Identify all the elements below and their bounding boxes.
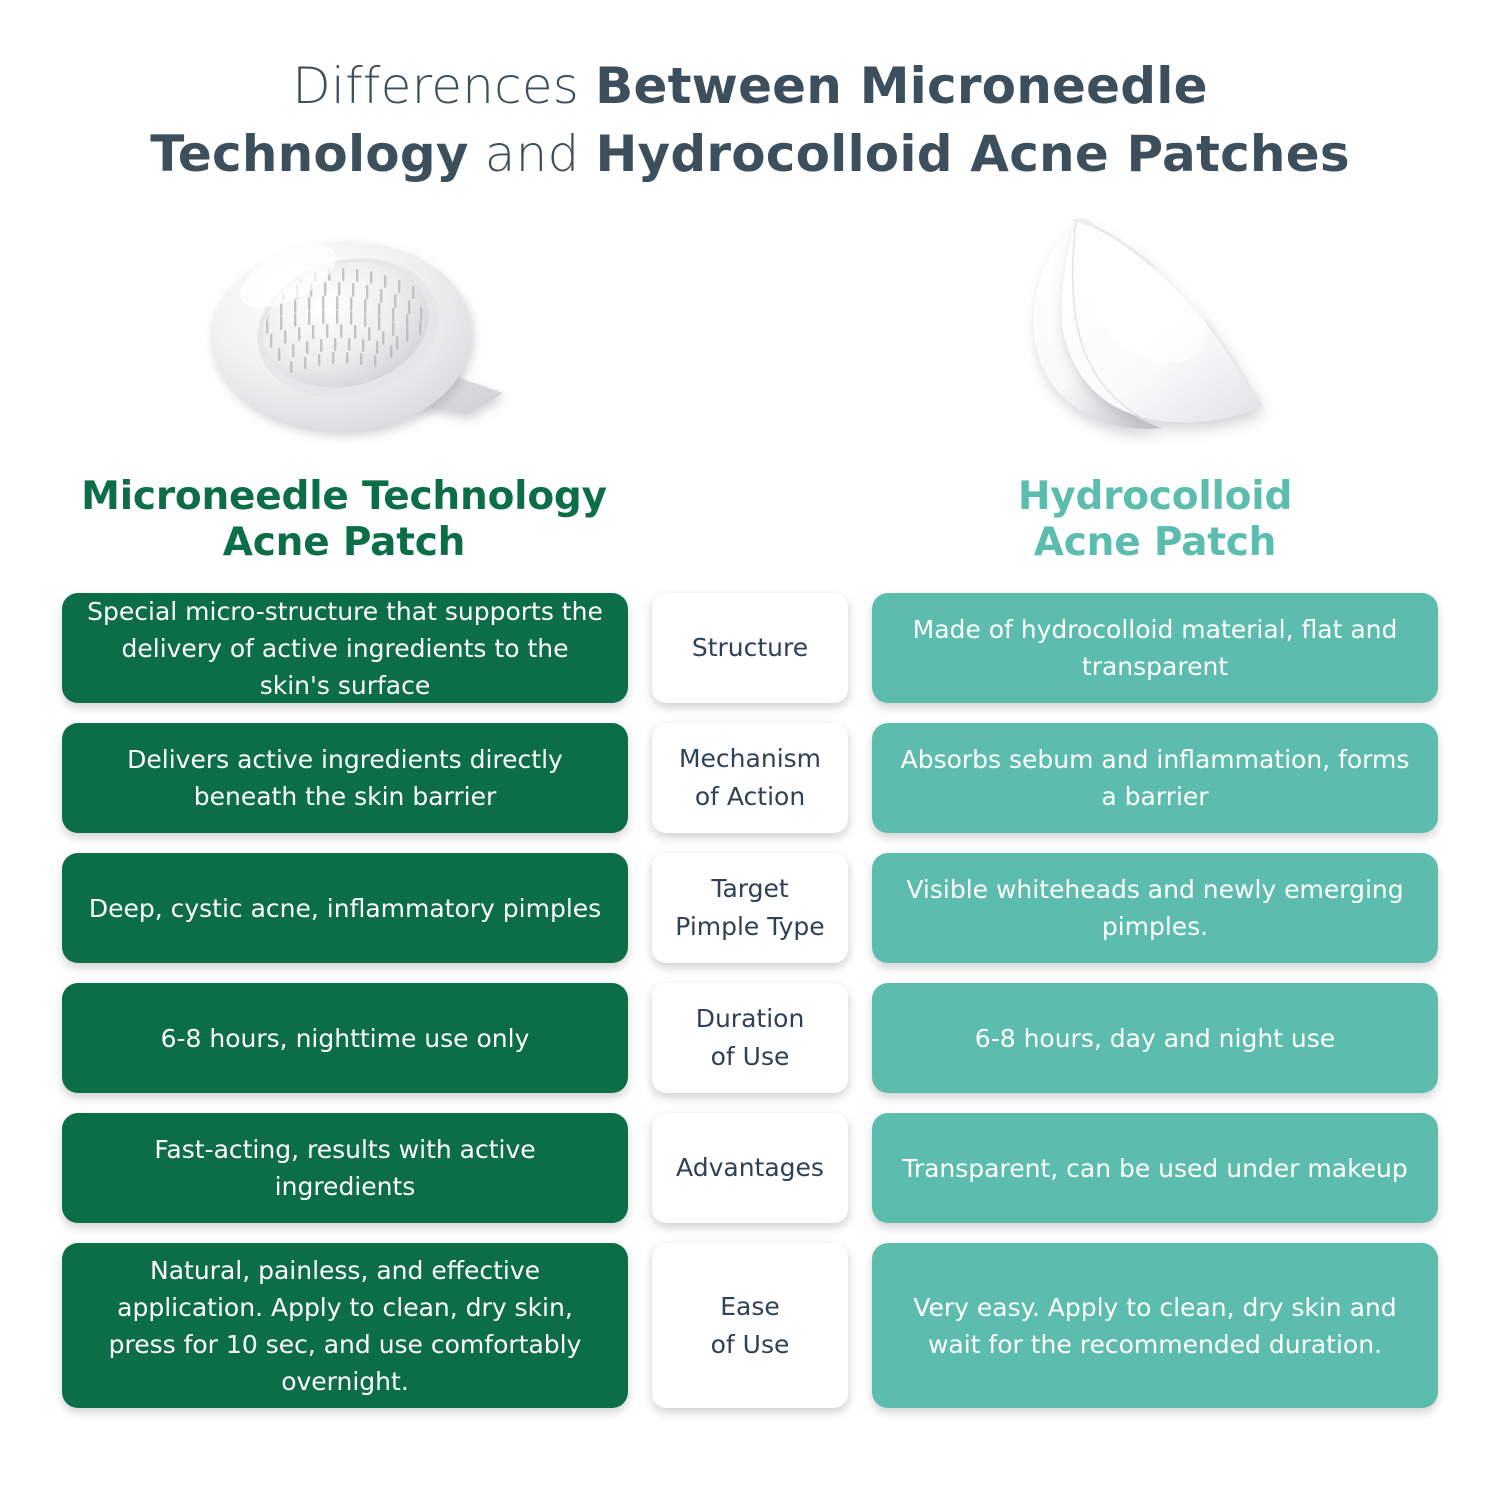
row-label-cell: Duration of Use [652,983,848,1093]
hydrocolloid-patch-graphic [980,200,1310,450]
table-row: Natural, painless, and effective applica… [0,1243,1500,1408]
title-word-and: and [469,125,596,183]
title-word-differences: Differences [292,57,595,115]
microneedle-cell: Special micro-structure that supports th… [62,593,628,703]
product-image-row [0,200,1500,450]
row-label: Mechanism of Action [679,740,821,816]
microneedle-cell: Delivers active ingredients directly ben… [62,723,628,833]
row-label-cell: Mechanism of Action [652,723,848,833]
column-heading-microneedle-line1: Microneedle Technology [42,474,646,520]
hydrocolloid-cell: Visible whiteheads and newly emerging pi… [872,853,1438,963]
column-heading-microneedle: Microneedle Technology Acne Patch [42,474,646,566]
column-heading-hydrocolloid-line1: Hydrocolloid [872,474,1438,520]
column-heading-microneedle-line2: Acne Patch [42,520,646,566]
title-line-1: Differences Between Microneedle [110,52,1390,120]
microneedle-patch-graphic [168,218,538,448]
microneedle-cell: Deep, cystic acne, inflammatory pimples [62,853,628,963]
microneedle-cell: Fast-acting, results with active ingredi… [62,1113,628,1223]
row-label-cell: Advantages [652,1113,848,1223]
microneedle-cell: Natural, painless, and effective applica… [62,1243,628,1408]
row-label: Ease of Use [711,1288,790,1364]
row-label-cell: Structure [652,593,848,703]
hydrocolloid-patch-image [980,200,1310,450]
row-label: Target Pimple Type [675,870,824,946]
table-row: 6-8 hours, nighttime use onlyDuration of… [0,983,1500,1093]
infographic-page: Differences Between Microneedle Technolo… [0,0,1500,1500]
column-heading-hydrocolloid: Hydrocolloid Acne Patch [872,474,1438,566]
comparison-table: Special micro-structure that supports th… [0,593,1500,1428]
row-label: Structure [692,629,808,667]
microneedle-cell: 6-8 hours, nighttime use only [62,983,628,1093]
title-phrase-hydrocolloid-acne-patches: Hydrocolloid Acne Patches [596,125,1350,183]
title-phrase-between-microneedle: Between Microneedle [595,57,1208,115]
table-row: Fast-acting, results with active ingredi… [0,1113,1500,1223]
row-label: Advantages [676,1149,824,1187]
column-heading-hydrocolloid-line2: Acne Patch [872,520,1438,566]
microneedle-patch-image [168,218,538,448]
title-line-2: Technology and Hydrocolloid Acne Patches [110,120,1390,188]
row-label-cell: Target Pimple Type [652,853,848,963]
hydrocolloid-cell: Transparent, can be used under makeup [872,1113,1438,1223]
table-row: Deep, cystic acne, inflammatory pimplesT… [0,853,1500,963]
table-row: Special micro-structure that supports th… [0,593,1500,703]
hydrocolloid-cell: Very easy. Apply to clean, dry skin and … [872,1243,1438,1408]
table-row: Delivers active ingredients directly ben… [0,723,1500,833]
row-label-cell: Ease of Use [652,1243,848,1408]
page-title: Differences Between Microneedle Technolo… [110,52,1390,188]
title-word-technology: Technology [150,125,468,183]
hydrocolloid-cell: Made of hydrocolloid material, flat and … [872,593,1438,703]
row-label: Duration of Use [696,1000,805,1076]
hydrocolloid-cell: 6-8 hours, day and night use [872,983,1438,1093]
hydrocolloid-cell: Absorbs sebum and inflammation, forms a … [872,723,1438,833]
